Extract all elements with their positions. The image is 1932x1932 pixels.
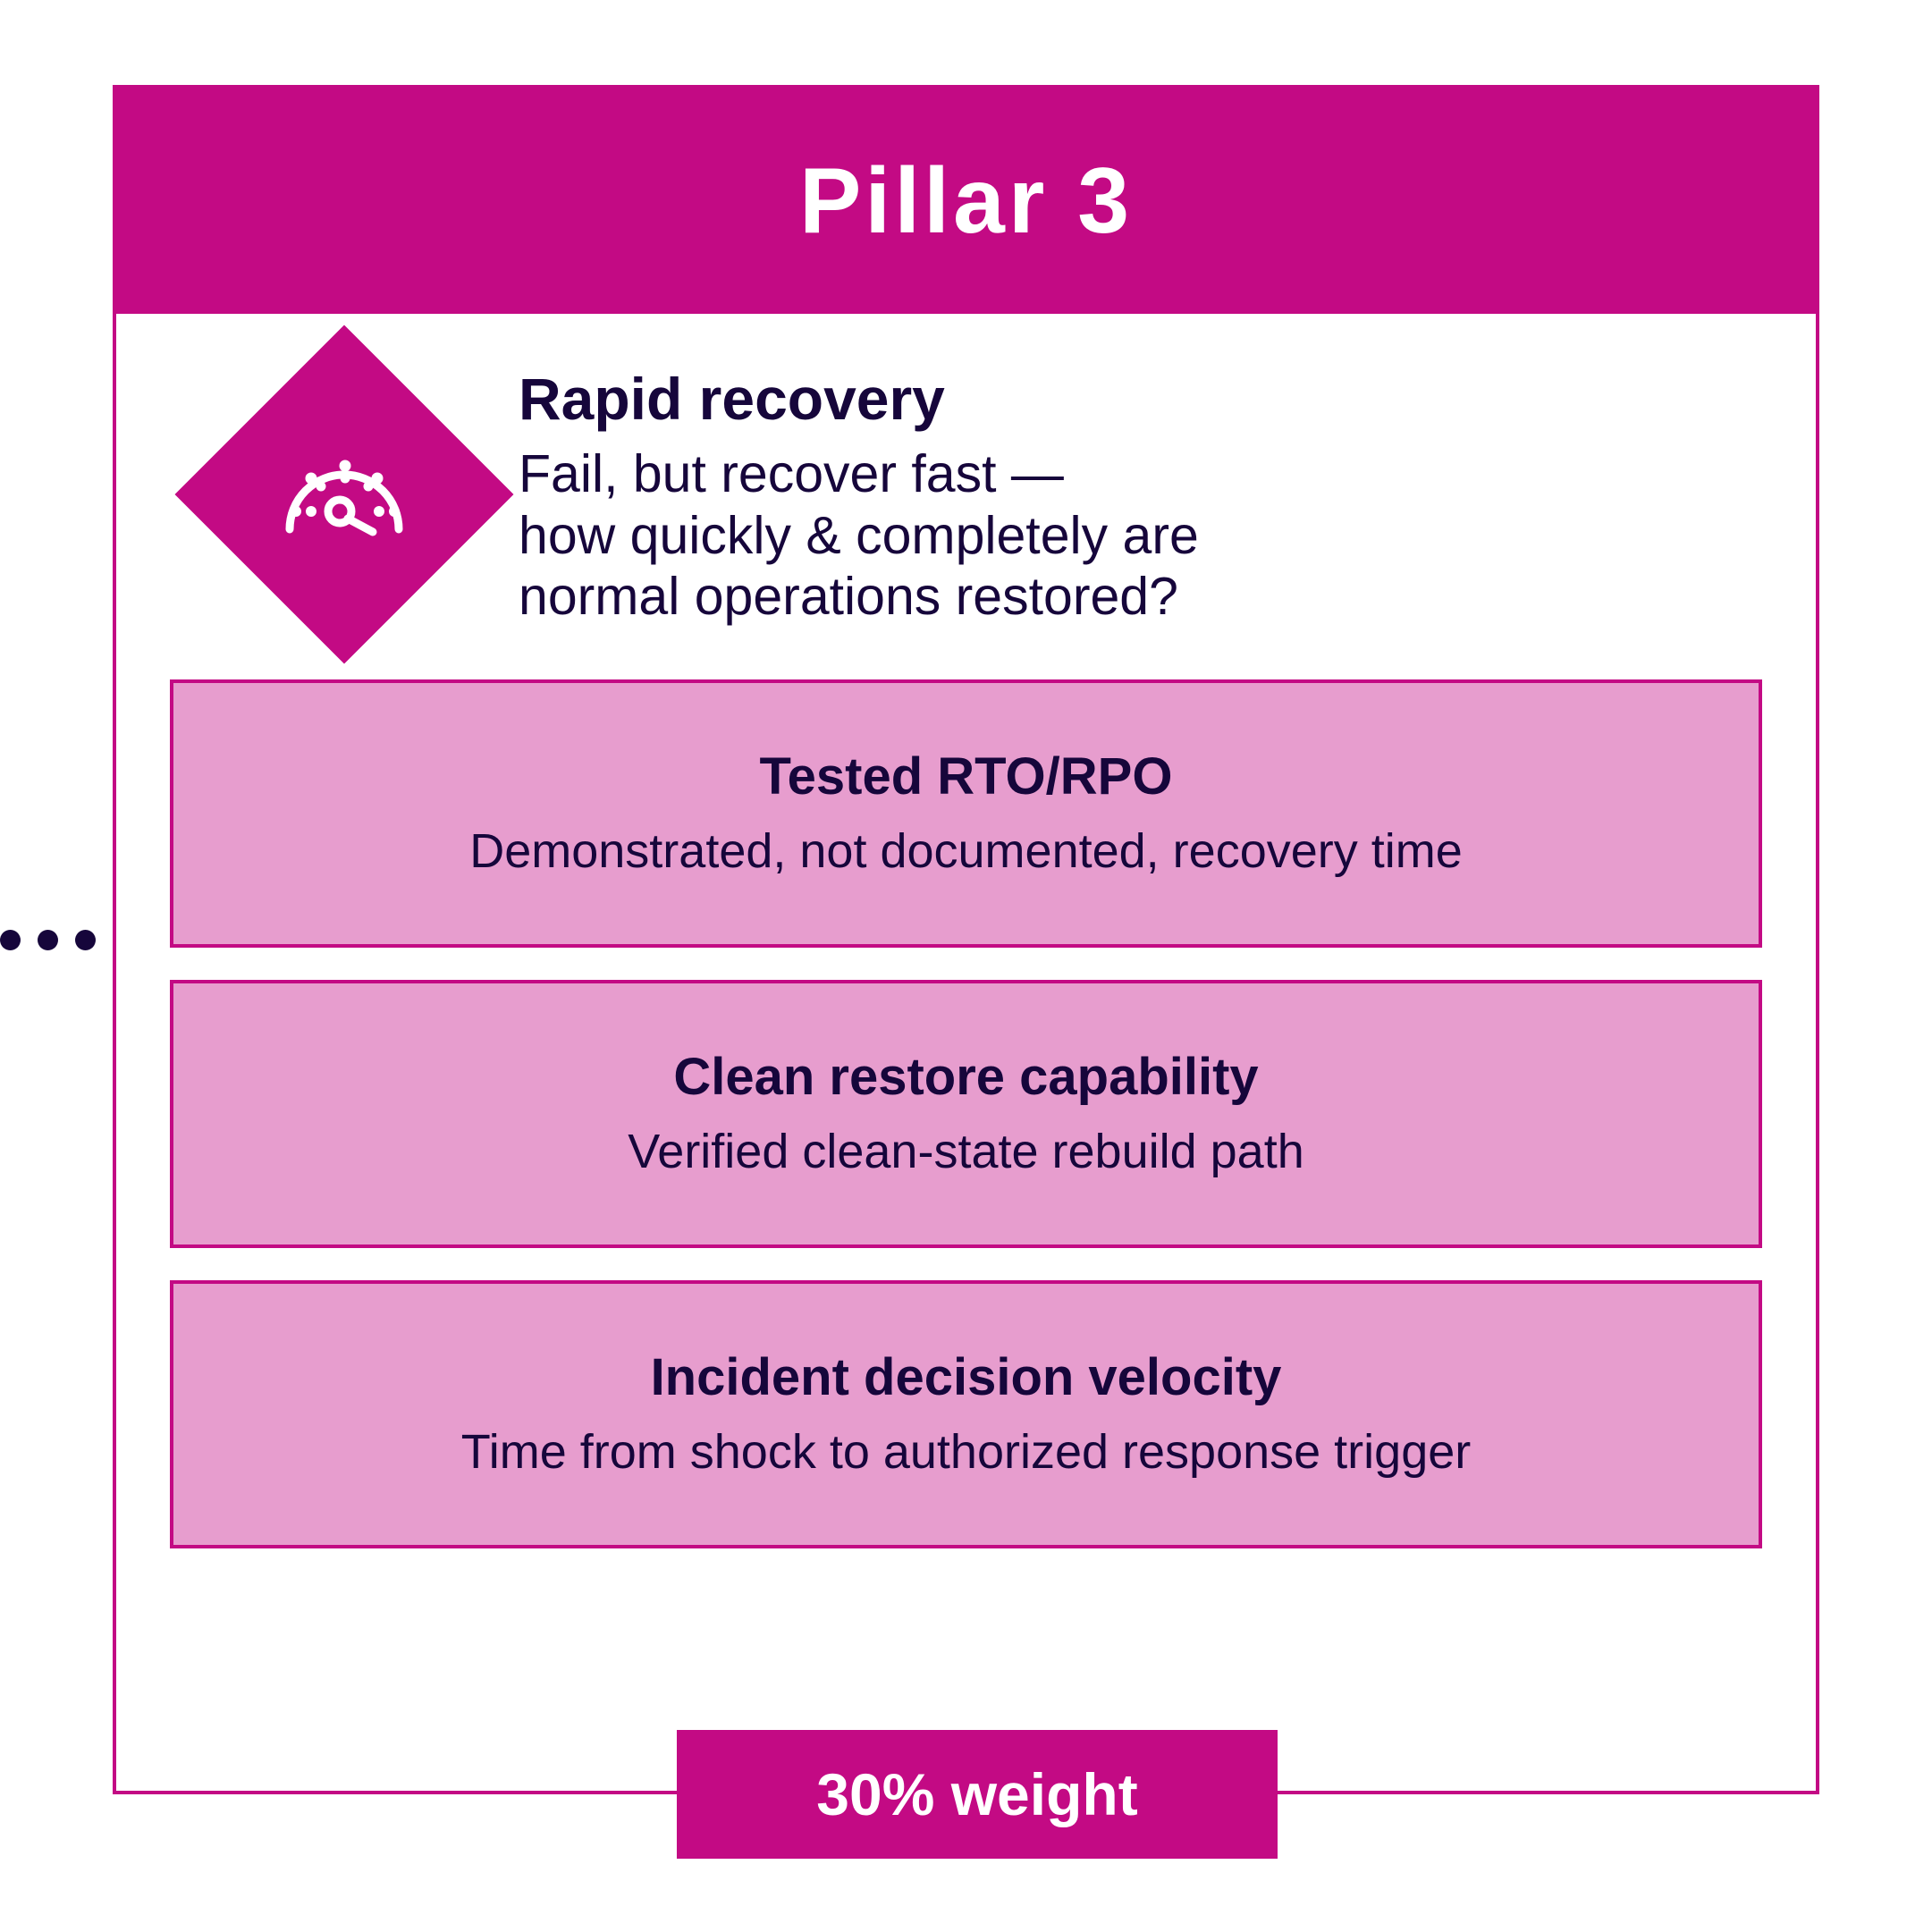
pillar-card: Pillar 3 — [113, 85, 1819, 1794]
metric-list: Tested RTO/RPO Demonstrated, not documen… — [116, 628, 1816, 1548]
speedometer-gauge-icon — [268, 418, 420, 570]
diamond-badge — [174, 325, 513, 663]
pillar-intro-text: Rapid recovery Fail, but recover fast — … — [519, 359, 1762, 628]
metric-subtitle: Verified clean-state rebuild path — [628, 1126, 1303, 1178]
pillar-description: Fail, but recover fast — how quickly & c… — [519, 443, 1762, 627]
card-header: Pillar 3 — [116, 89, 1816, 314]
pillar-name: Rapid recovery — [519, 367, 1762, 431]
connector-dot — [75, 930, 96, 950]
weight-badge-label: 30% weight — [816, 1765, 1137, 1824]
weight-badge: 30% weight — [677, 1730, 1278, 1859]
metric-title: Incident decision velocity — [651, 1349, 1282, 1406]
metric-card[interactable]: Tested RTO/RPO Demonstrated, not documen… — [170, 679, 1762, 948]
connector-dots — [0, 929, 116, 950]
pillar-icon-wrap — [170, 359, 519, 614]
connector-dot — [0, 930, 21, 950]
metric-card[interactable]: Incident decision velocity Time from sho… — [170, 1280, 1762, 1548]
metric-title: Tested RTO/RPO — [760, 748, 1173, 806]
connector-dot — [38, 930, 58, 950]
pillar-number-title: Pillar 3 — [799, 155, 1133, 248]
metric-subtitle: Demonstrated, not documented, recovery t… — [469, 825, 1463, 878]
metric-card[interactable]: Clean restore capability Verified clean-… — [170, 980, 1762, 1248]
pillar-intro-row: Rapid recovery Fail, but recover fast — … — [116, 314, 1816, 628]
metric-title: Clean restore capability — [673, 1049, 1258, 1106]
metric-subtitle: Time from shock to authorized response t… — [461, 1426, 1472, 1479]
